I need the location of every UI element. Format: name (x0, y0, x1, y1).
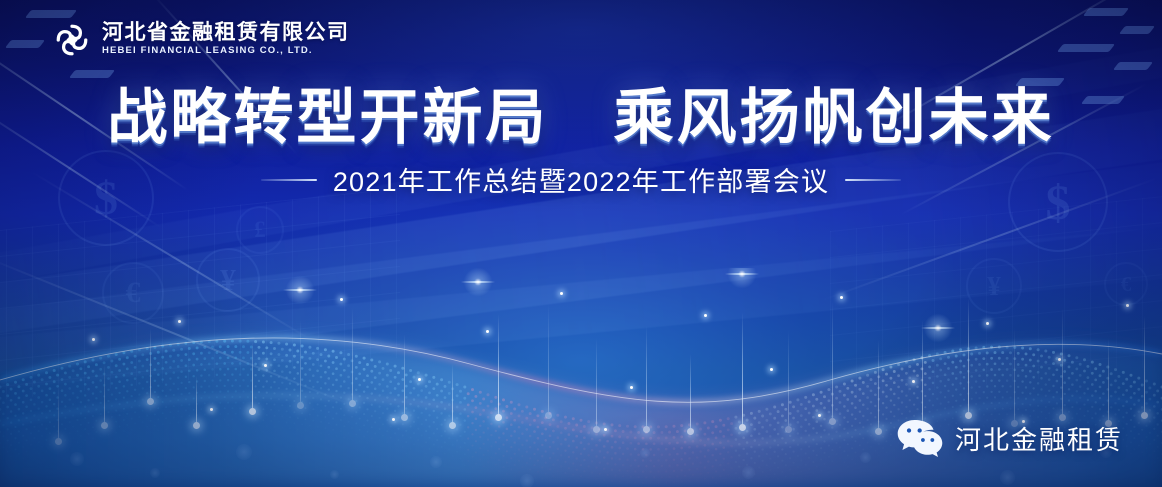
sparkle (210, 408, 213, 411)
pin-light (1014, 328, 1015, 424)
headline-block: 战略转型开新局 乘风扬帆创未来 (0, 86, 1162, 149)
pin-light (300, 320, 301, 406)
banner-canvas: $¥€£$¥€ (0, 0, 1162, 487)
pin-light (1062, 308, 1063, 418)
corner-dash (25, 10, 77, 18)
sparkle (392, 418, 395, 421)
pin-light (878, 340, 879, 432)
subtitle-rule-left (261, 179, 317, 181)
pin-light (352, 308, 353, 404)
pinwheel-swirl-logo-icon (52, 20, 92, 60)
corner-dash (5, 40, 45, 48)
star-flare (283, 273, 317, 307)
sparkle (340, 298, 343, 301)
pin-light (646, 326, 647, 430)
corner-dash (1119, 26, 1155, 34)
subtitle-block: 2021年工作总结暨2022年工作部署会议 (0, 160, 1162, 199)
star-flare (921, 311, 955, 345)
pin-light (1144, 316, 1145, 416)
pin-light (452, 364, 453, 426)
pin-light (498, 314, 499, 418)
sparkle (264, 364, 267, 367)
sparkle (1126, 304, 1129, 307)
wechat-account-name: 河北金融租赁 (955, 420, 1123, 457)
sparkle (630, 386, 633, 389)
headline-part-2: 乘风扬帆创未来 (614, 84, 1055, 151)
pin-light (404, 334, 405, 418)
wechat-icon (896, 418, 944, 458)
sparkle (1058, 358, 1061, 361)
sparkle (840, 296, 843, 299)
sparkle (418, 378, 421, 381)
star-flare (725, 268, 759, 291)
pin-light (690, 354, 691, 432)
currency-coin-163: £ (236, 206, 284, 254)
pin-light (252, 342, 253, 412)
star-flare (461, 268, 495, 299)
sparkle (92, 338, 95, 341)
sparkle (486, 330, 489, 333)
corner-dash (1113, 62, 1153, 70)
pin-light (832, 302, 833, 422)
subtitle-rule-right (845, 179, 901, 181)
subtitle-text: 2021年工作总结暨2022年工作部署会议 (333, 160, 829, 199)
wechat-badge: 河北金融租赁 (896, 418, 1123, 458)
pin-light (742, 312, 743, 428)
pin-light (150, 328, 151, 402)
corner-dash (1083, 8, 1129, 16)
logo-company-name-cn: 河北省金融租赁有限公司 (102, 22, 350, 45)
corner-dash (69, 70, 115, 78)
pin-light (968, 298, 969, 416)
sparkle (604, 428, 607, 431)
company-logo: 河北省金融租赁有限公司 HEBEI FINANCIAL LEASING CO.,… (52, 20, 350, 60)
headline-part-1: 战略转型开新局 (107, 84, 548, 151)
sparkle (818, 414, 821, 417)
sparkle (704, 314, 707, 317)
page-title: 战略转型开新局 乘风扬帆创未来 (107, 86, 1054, 149)
sparkle (560, 292, 563, 295)
sparkle (912, 380, 915, 383)
pin-light (104, 364, 105, 426)
sparkle (986, 322, 989, 325)
pin-light (788, 330, 789, 430)
pin-light (196, 376, 197, 426)
sparkle (770, 368, 773, 371)
corner-dash (1057, 44, 1115, 52)
pin-light (58, 388, 59, 442)
pin-light (548, 304, 549, 416)
logo-company-name-en: HEBEI FINANCIAL LEASING CO., LTD. (102, 44, 350, 58)
sparkle (178, 320, 181, 323)
pin-light (1108, 338, 1109, 424)
pin-light (596, 338, 597, 430)
